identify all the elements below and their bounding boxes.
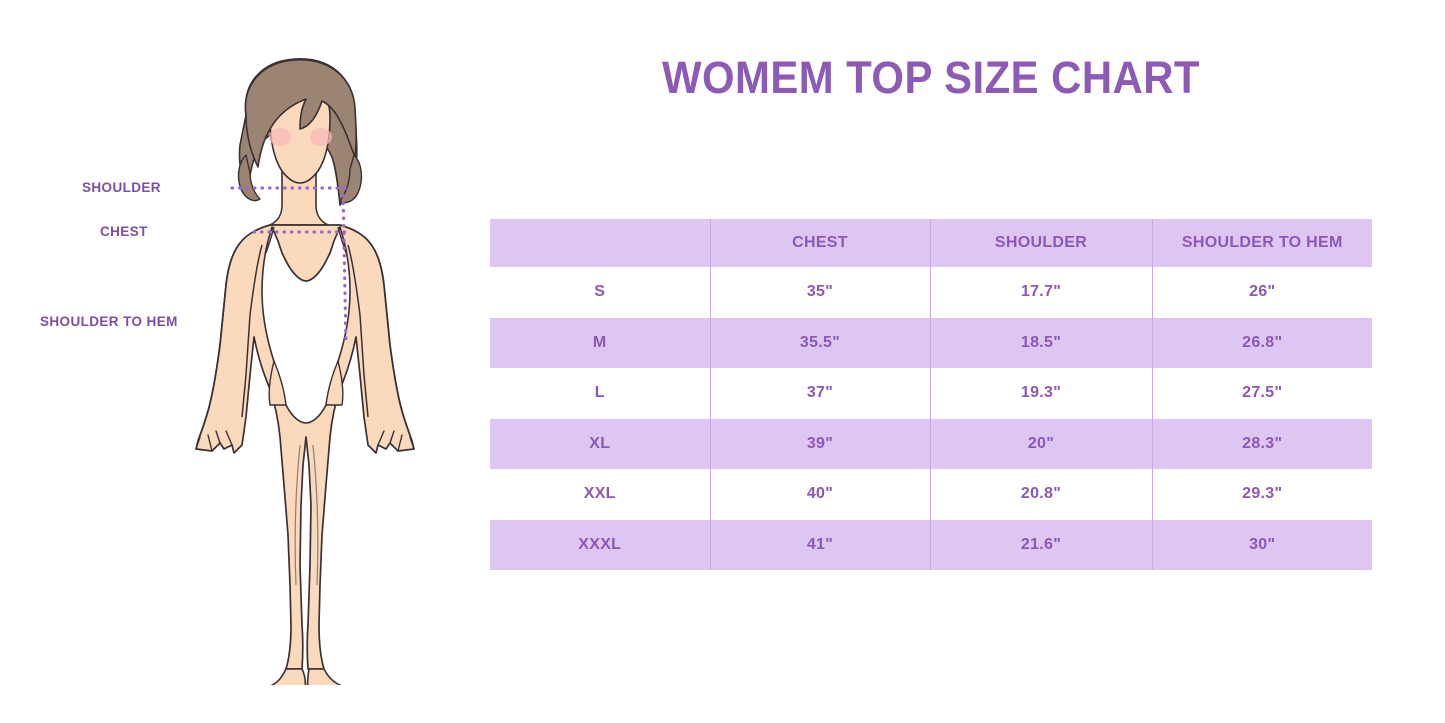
page-title: WOMEM TOP SIZE CHART: [521, 52, 1341, 104]
foot-right: [308, 669, 342, 685]
cell-shoulder-to-hem: 26.8": [1152, 318, 1372, 369]
cell-shoulder-to-hem: 28.3": [1152, 419, 1372, 470]
cell-shoulder: 20": [930, 419, 1152, 470]
header-cell-chest: CHEST: [710, 219, 930, 267]
cell-shoulder: 19.3": [930, 368, 1152, 419]
table-row: XL 39" 20" 28.3": [490, 419, 1372, 470]
blush-left: [269, 128, 291, 146]
cell-size: M: [490, 318, 710, 369]
table-row: S 35" 17.7" 26": [490, 267, 1372, 318]
cell-size: S: [490, 267, 710, 318]
cell-shoulder-to-hem: 29.3": [1152, 469, 1372, 520]
table-body: S 35" 17.7" 26" M 35.5" 18.5" 26.8" L 37…: [490, 267, 1372, 570]
cell-shoulder-to-hem: 27.5": [1152, 368, 1372, 419]
table-row: XXXL 41" 21.6" 30": [490, 520, 1372, 571]
size-chart-table: CHEST SHOULDER SHOULDER TO HEM S 35" 17.…: [490, 219, 1372, 570]
table-row: L 37" 19.3" 27.5": [490, 368, 1372, 419]
header-cell-shoulder-to-hem: SHOULDER TO HEM: [1152, 219, 1372, 267]
cell-chest: 39": [710, 419, 930, 470]
foot-left: [270, 669, 305, 685]
cell-chest: 40": [710, 469, 930, 520]
cell-chest: 35": [710, 267, 930, 318]
header-cell-size: [490, 219, 710, 267]
cell-shoulder-to-hem: 26": [1152, 267, 1372, 318]
model-figure-panel: SHOULDER CHEST SHOULDER TO HEM: [0, 0, 470, 723]
measurement-label-shoulder-to-hem: SHOULDER TO HEM: [40, 314, 178, 329]
blush-right: [310, 128, 332, 146]
header-row: CHEST SHOULDER SHOULDER TO HEM: [490, 219, 1372, 267]
cell-shoulder-to-hem: 30": [1152, 520, 1372, 571]
cell-shoulder: 21.6": [930, 520, 1152, 571]
header-cell-shoulder: SHOULDER: [930, 219, 1152, 267]
cell-chest: 35.5": [710, 318, 930, 369]
female-body-illustration: [150, 45, 450, 685]
cell-shoulder: 20.8": [930, 469, 1152, 520]
size-chart-table-container: CHEST SHOULDER SHOULDER TO HEM S 35" 17.…: [490, 219, 1372, 570]
cell-size: XXXL: [490, 520, 710, 571]
cell-chest: 41": [710, 520, 930, 571]
table-row: XXL 40" 20.8" 29.3": [490, 469, 1372, 520]
cell-shoulder: 18.5": [930, 318, 1152, 369]
cell-chest: 37": [710, 368, 930, 419]
measurement-label-shoulder: SHOULDER: [82, 180, 161, 195]
measurement-label-chest: CHEST: [100, 224, 148, 239]
cell-shoulder: 17.7": [930, 267, 1152, 318]
table-header: CHEST SHOULDER SHOULDER TO HEM: [490, 219, 1372, 267]
cell-size: XL: [490, 419, 710, 470]
table-row: M 35.5" 18.5" 26.8": [490, 318, 1372, 369]
cell-size: XXL: [490, 469, 710, 520]
cell-size: L: [490, 368, 710, 419]
